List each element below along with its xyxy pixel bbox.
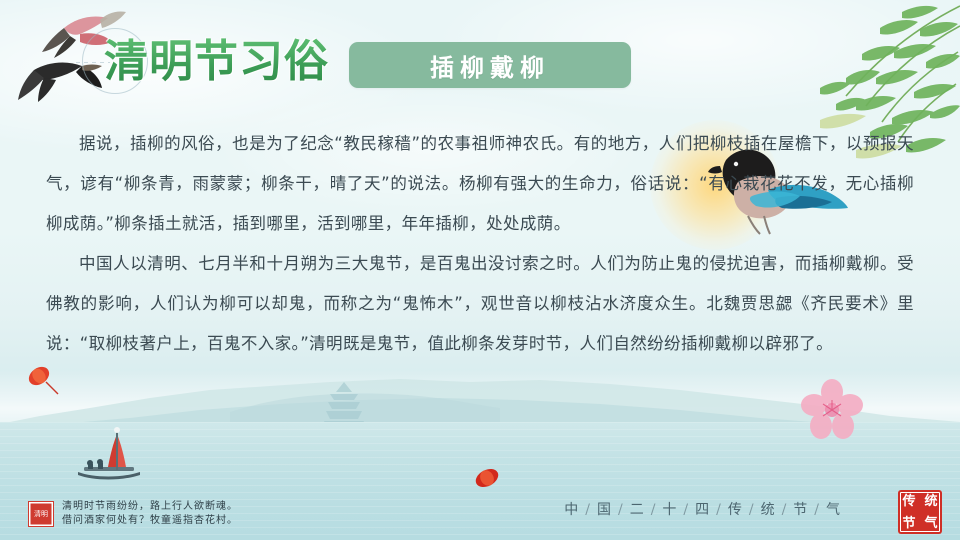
page-title: 清明节习俗 — [104, 36, 329, 88]
subtitle-tag-label: 插柳戴柳 — [430, 48, 550, 83]
kicker-separator: / — [678, 502, 695, 518]
article-paragraph: 据说，插柳的风俗，也是为了纪念“教民稼穑”的农事祖师神农氏。有的地方，人们把柳枝… — [46, 124, 914, 244]
kicker-separator: / — [613, 502, 630, 518]
brand-seal-char: 传 — [902, 494, 915, 509]
peach-blossom-icon — [800, 378, 864, 442]
kicker-text: 中/国/二/十/四/传/统/节/气 — [564, 499, 842, 519]
kicker-separator: / — [809, 502, 826, 518]
poem-block: 清明 清明时节雨纷纷，路上行人欲断魂。 借问酒家何处有？牧童遥指杏花村。 — [28, 500, 238, 528]
kicker-item: 四 — [695, 502, 711, 518]
poem-line-2: 借问酒家何处有？牧童遥指杏花村。 — [62, 514, 238, 528]
kicker-separator: / — [580, 502, 597, 518]
article-body: 据说，插柳的风俗，也是为了纪念“教民稼穑”的农事祖师神农氏。有的地方，人们把柳枝… — [46, 124, 914, 364]
kicker-separator: / — [744, 502, 761, 518]
poem-lines: 清明时节雨纷纷，路上行人欲断魂。 借问酒家何处有？牧童遥指杏花村。 — [62, 500, 238, 528]
kicker-separator: / — [711, 502, 728, 518]
kicker-item: 中 — [564, 502, 580, 518]
kicker-item: 气 — [826, 502, 842, 518]
kicker-item: 二 — [630, 502, 646, 518]
brand-seal-char: 统 — [924, 494, 937, 509]
brand-seal-char: 节 — [902, 516, 915, 531]
article-paragraph: 中国人以清明、七月半和十月朔为三大鬼节，是百鬼出没讨索之时。人们为防止鬼的侵扰迫… — [46, 244, 914, 364]
poem-seal: 清明 — [28, 501, 54, 527]
brand-seal: 传 统 节 气 — [898, 490, 942, 534]
red-lantern-icon — [22, 360, 64, 402]
poem-line-1: 清明时节雨纷纷，路上行人欲断魂。 — [62, 500, 238, 514]
sailing-boat-icon — [60, 426, 156, 482]
brand-seal-char: 气 — [924, 516, 937, 531]
kicker-item: 节 — [793, 502, 809, 518]
kicker-item: 十 — [662, 502, 678, 518]
red-lantern-icon — [468, 462, 508, 496]
kicker-separator: / — [777, 502, 794, 518]
kicker-separator: / — [646, 502, 663, 518]
slide-header: 清明节习俗 插柳戴柳 — [0, 0, 960, 120]
kicker-item: 统 — [761, 502, 777, 518]
pagoda-icon — [318, 380, 370, 436]
kicker-item: 国 — [597, 502, 613, 518]
subtitle-tag: 插柳戴柳 — [349, 42, 631, 88]
kicker-item: 传 — [728, 502, 744, 518]
slide-canvas: 清明节习俗 插柳戴柳 据说，插柳的风俗，也是为了纪念“教民稼穑”的农事祖师神农氏… — [0, 0, 960, 540]
